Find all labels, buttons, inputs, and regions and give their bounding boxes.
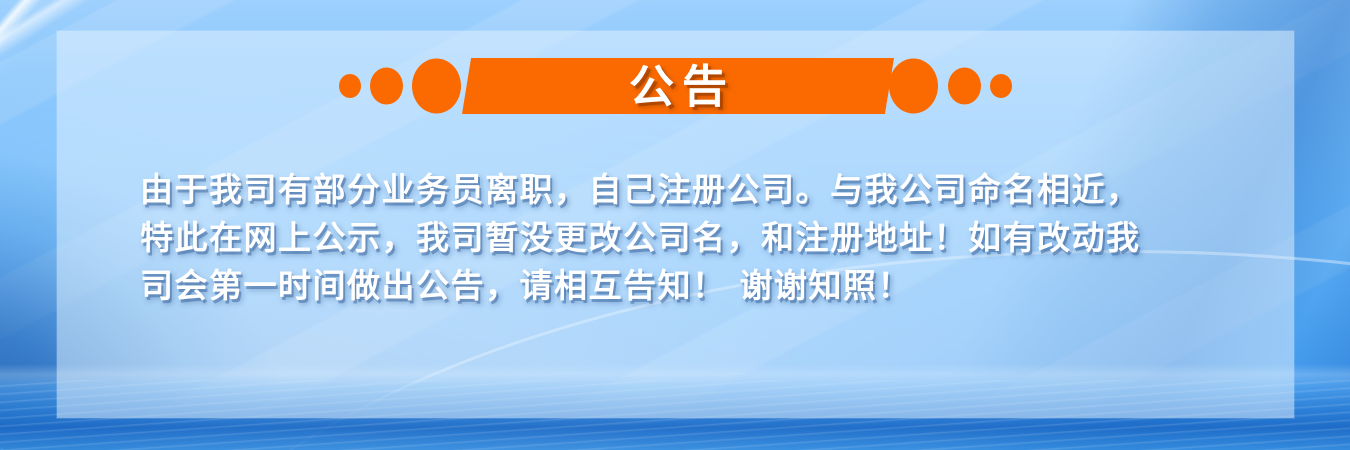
decorative-dot-small-right bbox=[990, 74, 1012, 98]
decorative-dot-medium-left bbox=[370, 68, 403, 105]
announcement-message: 由于我司有部分业务员离职，自己注册公司。与我公司命名相近， 特此在网上公示，我司… bbox=[140, 166, 1230, 310]
page-title: 公告 bbox=[462, 58, 894, 114]
message-line: 司会第一时间做出公告，请相互告知！ 谢谢知照！ bbox=[140, 262, 1230, 310]
decorative-dot-medium-right bbox=[948, 68, 981, 105]
decorative-dot-large-right bbox=[889, 59, 938, 114]
decorative-dot-small-left bbox=[339, 74, 361, 98]
announcement-banner: 公告 由于我司有部分业务员离职，自己注册公司。与我公司命名相近， 特此在网上公示… bbox=[0, 0, 1350, 450]
message-line: 特此在网上公示，我司暂没更改公司名，和注册地址！如有改动我 bbox=[140, 214, 1230, 262]
title-bar-container: 公告 bbox=[0, 51, 1350, 121]
message-line: 由于我司有部分业务员离职，自己注册公司。与我公司命名相近， bbox=[140, 166, 1230, 214]
